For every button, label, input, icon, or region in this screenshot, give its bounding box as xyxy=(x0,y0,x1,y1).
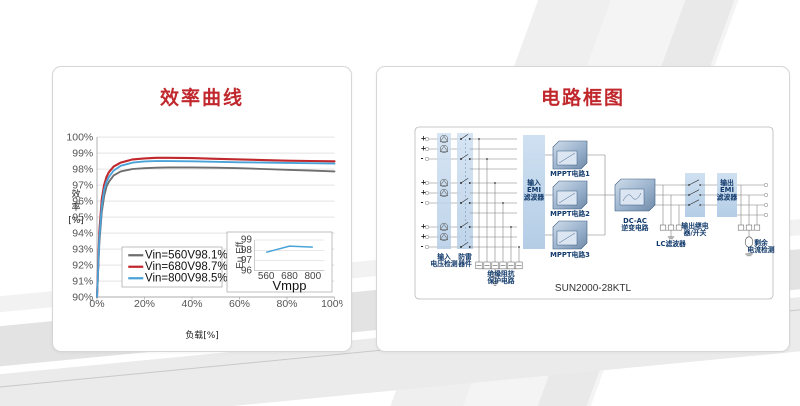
y-tick-label: 92% xyxy=(72,260,93,272)
efficiency-chart-svg: 100%99%98%97%96%95%94%93%92%91%90%0%20%4… xyxy=(61,127,343,342)
y-tick-label: 91% xyxy=(72,276,93,288)
pv-terminal-label: + xyxy=(421,179,427,187)
circuit-block-label: MPPT电路1 xyxy=(550,169,590,178)
circuit-block-label: 电流检测 xyxy=(747,245,774,254)
pv-terminal-label: - xyxy=(421,199,424,207)
x-tick-label: 80% xyxy=(276,298,297,310)
x-tick-label: 20% xyxy=(134,298,155,310)
circuit-diagram-panel: 电路框图 ++-++-++-输入电压检测防雷器件输入EMI滤波器MPPT电路1M… xyxy=(376,66,790,352)
efficiency-curve-panel: 效率曲线 效 率 [%] 负载[%] 100%99%98%97%96%95%94… xyxy=(52,66,352,352)
inset-x-tick-label: 800 xyxy=(304,271,321,282)
circuit-diagram-svg: ++-++-++-输入电压检测防雷器件输入EMI滤波器MPPT电路1MPPT电路… xyxy=(413,125,775,315)
inset-x-axis-title: Vmpp xyxy=(273,278,307,293)
circuit-block-label: 逆变电路 xyxy=(621,223,648,232)
circuit-block-label: LC滤波器 xyxy=(656,239,686,248)
y-tick-label: 97% xyxy=(72,180,93,192)
circuit-block-label: 保护电路 xyxy=(486,276,514,285)
x-tick-label: 100% xyxy=(321,298,343,310)
pv-terminal-label: - xyxy=(421,243,424,251)
pv-terminal-label: + xyxy=(421,223,427,231)
y-tick-label: 100% xyxy=(66,132,93,144)
y-tick-label: 95% xyxy=(72,212,93,224)
x-tick-label: 0% xyxy=(89,298,104,310)
y-tick-label: 94% xyxy=(72,228,93,240)
y-tick-label: 96% xyxy=(72,196,93,208)
efficiency-chart: 效 率 [%] 负载[%] 100%99%98%97%96%95%94%93%9… xyxy=(61,127,343,342)
pv-terminal-label: + xyxy=(421,189,427,197)
y-tick-label: 93% xyxy=(72,244,93,256)
circuit-model-label: SUN2000-28KTL xyxy=(555,283,632,294)
page-title-efficiency: 效率曲线 xyxy=(53,83,351,110)
page-title-circuit: 电路框图 xyxy=(377,83,789,110)
circuit-block-label: 滤波器 xyxy=(524,192,545,201)
circuit-block-label: 滤波器 xyxy=(717,192,738,201)
x-tick-label: 60% xyxy=(229,298,250,310)
inset-y-axis-title: Eu Eff xyxy=(235,242,246,269)
y-tick-label: 98% xyxy=(72,164,93,176)
x-tick-label: 40% xyxy=(181,298,202,310)
circuit-block-label: MPPT电路2 xyxy=(550,209,590,218)
circuit-block-label: 器件 xyxy=(457,259,472,268)
pv-terminal-label: + xyxy=(421,135,427,143)
pv-terminal-label: + xyxy=(421,233,427,241)
circuit-block-label: 器/开关 xyxy=(683,228,707,237)
pv-terminal-label: + xyxy=(421,145,427,153)
y-tick-label: 99% xyxy=(72,148,93,160)
circuit-block-label: 电压检测 xyxy=(430,259,457,268)
circuit-block-diagram: ++-++-++-输入电压检测防雷器件输入EMI滤波器MPPT电路1MPPT电路… xyxy=(413,125,775,315)
circuit-block-label: MPPT电路3 xyxy=(550,250,590,259)
pv-terminal-label: - xyxy=(421,155,424,163)
